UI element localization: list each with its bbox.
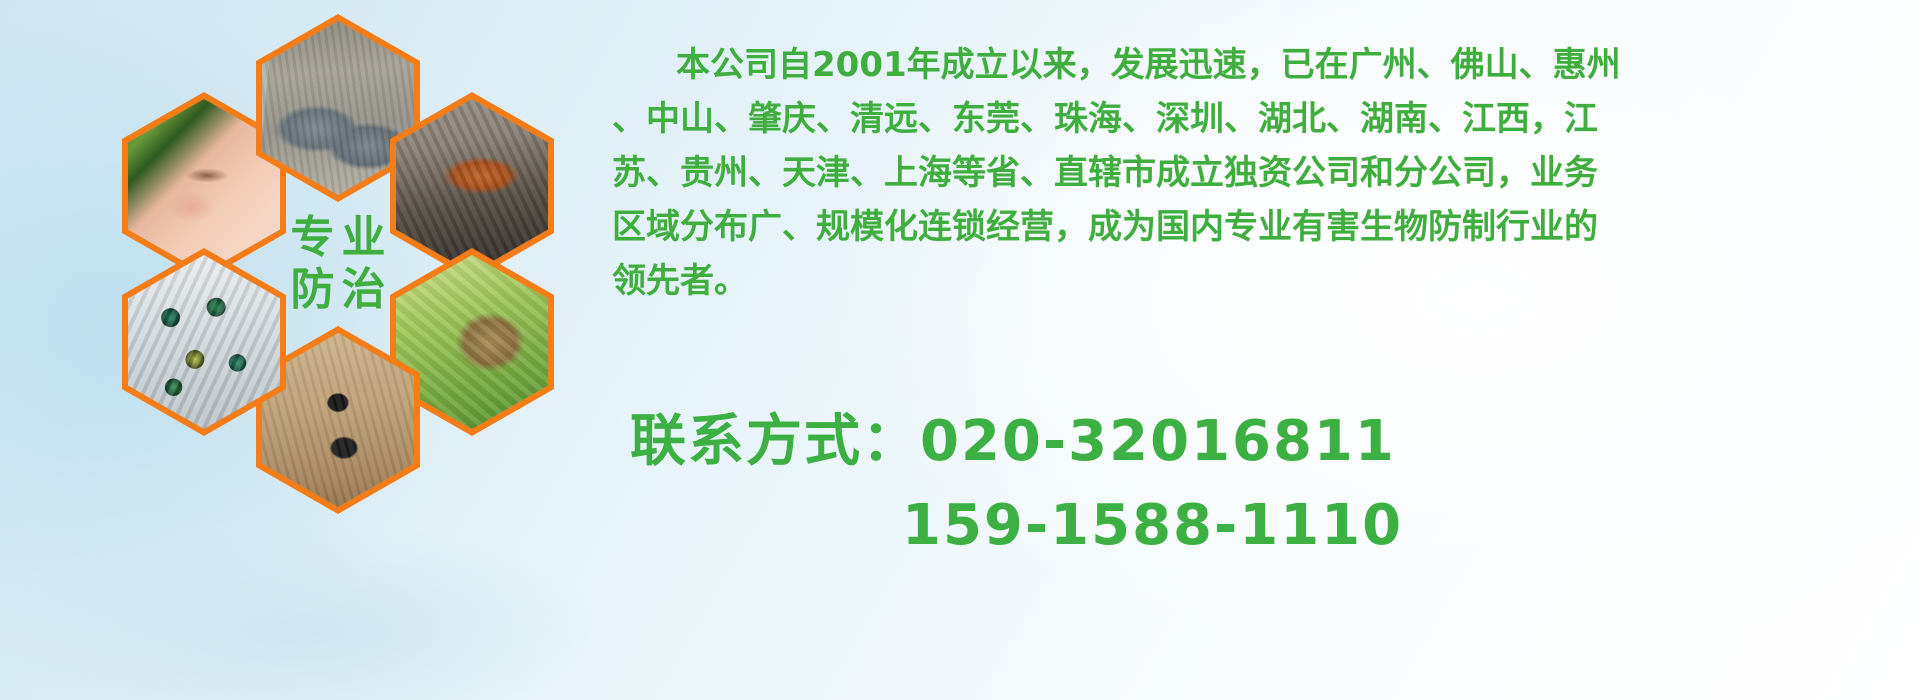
honeycomb-graphic: 专业 防治 <box>78 8 598 578</box>
intro-line-5: 领先者。 <box>612 254 1908 308</box>
contact-block: 联系方式：020-32016811 159-1588-1110 <box>612 400 1908 568</box>
intro-line-2: 、中山、肇庆、清远、东莞、珠海、深圳、湖北、湖南、江西，江 <box>612 92 1908 146</box>
honeycomb-label-line2: 防治 <box>284 264 393 316</box>
honeycomb-label-line1: 专业 <box>284 212 393 264</box>
intro-line-3: 苏、贵州、天津、上海等省、直辖市成立独资公司和分公司，业务 <box>612 146 1908 200</box>
company-intro-paragraph: 本公司自2001年成立以来，发展迅速，已在广州、佛山、惠州 、中山、肇庆、清远、… <box>612 38 1908 308</box>
honeycomb-center-label: 专业 防治 <box>284 212 393 316</box>
contact-phone-mobile[interactable]: 159-1588-1110 <box>612 484 1908 568</box>
banner-root: 专业 防治 本公司自2001年成立以来，发展迅速，已在广州、佛山、惠州 、中山、… <box>0 0 1920 700</box>
intro-line-1: 本公司自2001年成立以来，发展迅速，已在广州、佛山、惠州 <box>612 38 1908 92</box>
intro-line-4: 区域分布广、规模化连锁经营，成为国内专业有害生物防制行业的 <box>612 200 1908 254</box>
contact-phone-primary[interactable]: 联系方式：020-32016811 <box>612 400 1908 484</box>
text-column: 本公司自2001年成立以来，发展迅速，已在广州、佛山、惠州 、中山、肇庆、清远、… <box>612 0 1912 700</box>
